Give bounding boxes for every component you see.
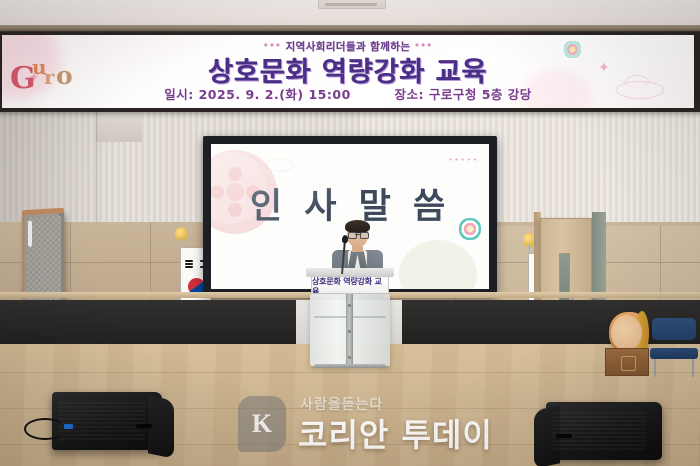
chair-leg: [692, 359, 694, 377]
stage-monitor-right: [546, 402, 662, 460]
monitor-grill: [552, 410, 646, 450]
floor-seam: [0, 372, 700, 373]
podium-sign-large-text: 상호문화 역량강화 교육: [312, 277, 388, 294]
blue-chair: [650, 318, 698, 376]
chair-leg: [654, 359, 656, 377]
podium-base-foot: [314, 364, 386, 368]
monitor-handle-slot: [136, 424, 152, 428]
monitor-wedge: [148, 395, 174, 459]
banner-dots-right: •••: [414, 41, 432, 50]
speaker-cable: [24, 418, 66, 440]
monitor-grill: [58, 400, 146, 440]
event-banner-frame: ✦ ✦ G u r o ••• 지역사회리더들과 함께하는 ••• 상호문화 역…: [0, 32, 700, 112]
monitor-handle-slot: [556, 434, 572, 438]
banner-info-row: 일시: 2025. 9. 2.(화) 15:00 장소: 구로구청 5층 강당: [2, 84, 694, 103]
ceiling-vent-icon: [318, 0, 386, 9]
drum-head: [611, 315, 642, 351]
flower-ornament-icon: [459, 218, 481, 240]
slide-cloud-motif-icon: [265, 158, 293, 172]
wall-panel-seam: [150, 222, 151, 312]
podium-sign: 지역사회리더들과 함께하는 상호문화 역량강화 교육: [311, 276, 389, 294]
eyeglasses-icon: [348, 232, 367, 237]
stage-monitor-left: [52, 392, 162, 450]
podium-fastener: [348, 304, 351, 307]
purifier-top: [22, 208, 64, 216]
wall-corner-edge: [96, 112, 99, 230]
wall-soffit: [96, 112, 142, 142]
event-banner: ✦ ✦ G u r o ••• 지역사회리더들과 함께하는 ••• 상호문화 역…: [2, 35, 694, 108]
chair-backrest: [652, 318, 696, 340]
podium-body: [310, 294, 390, 366]
slide-dots-decor: •••••: [448, 156, 479, 164]
banner-date: 일시: 2025. 9. 2.(화) 15:00: [164, 87, 351, 102]
drum-wooden-stand: [605, 348, 649, 376]
podium-fastener: [348, 330, 351, 333]
podium-fastener: [348, 356, 351, 359]
wall-panel-seam: [70, 222, 71, 312]
photograph-canvas: ✦ ✦ G u r o ••• 지역사회리더들과 함께하는 ••• 상호문화 역…: [0, 0, 700, 466]
slide-green-circle-decor: [399, 240, 477, 289]
purifier-light-strip: [28, 221, 32, 247]
chair-seat: [650, 348, 698, 359]
banner-place: 장소: 구로구청 5층 강당: [395, 87, 532, 102]
banner-dots-left: •••: [263, 41, 281, 50]
